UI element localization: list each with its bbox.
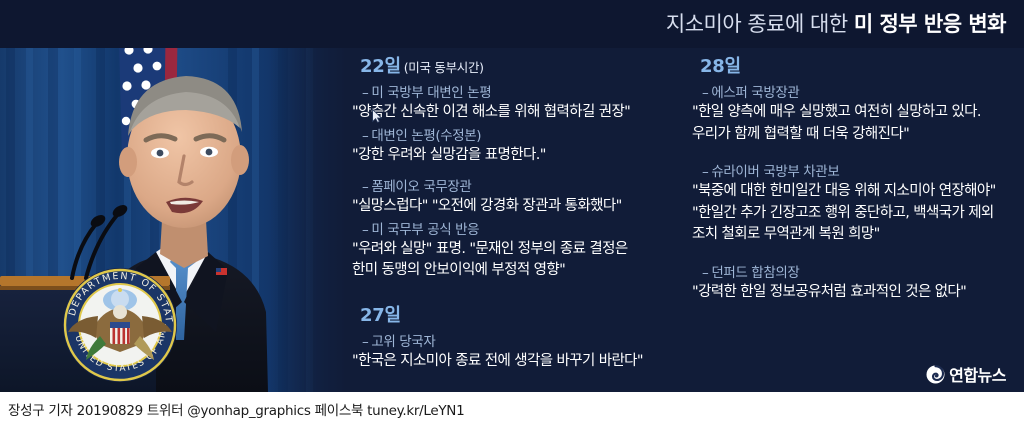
source-label: 폼페이오 국무장관 <box>371 179 471 195</box>
dash-marker: – <box>362 222 368 238</box>
source-label: 미 국방부 대변인 논평 <box>371 85 491 101</box>
source-label: 던퍼드 합참의장 <box>711 265 799 281</box>
statement-entry: –고위 당국자 "한국은 지소미아 종료 전에 생각을 바꾸기 바란다" <box>348 330 688 372</box>
statement-source: –던퍼드 합참의장 <box>702 261 1024 281</box>
dash-marker: – <box>702 164 708 180</box>
statement-entry: –에스퍼 국방장관 "한일 양측에 매우 실망했고 여전히 실망하고 있다. 우… <box>688 81 1024 144</box>
dash-marker: – <box>362 334 368 350</box>
source-label: 대변인 논평(수정본) <box>371 128 481 144</box>
date-heading: 22일(미국 동부시간) <box>360 52 688 78</box>
page-title-light: 지소미아 종료에 대한 <box>666 12 854 36</box>
yonhap-logo: 연합뉴스 <box>926 362 1006 386</box>
date-block-28: 28일 –에스퍼 국방장관 "한일 양측에 매우 실망했고 여전히 실망하고 있… <box>688 52 1024 302</box>
statement-quote: "한일 양측에 매우 실망했고 여전히 실망하고 있다. <box>692 102 1024 123</box>
statement-source: –미 국무부 공식 반응 <box>362 218 688 238</box>
source-label: 고위 당국자 <box>371 334 435 350</box>
footer-credit: 장성구 기자 20190829 트위터 @yonhap_graphics 페이스… <box>8 399 464 419</box>
dash-marker: – <box>362 128 368 144</box>
statement-quote: "한일간 추가 긴장고조 행위 중단하고, 백색국가 제외 <box>692 203 1024 224</box>
statement-entry: –미 국무부 공식 반응 "우려와 실망" 표명. "문재인 정부의 종료 결정… <box>348 218 688 281</box>
spacer <box>348 283 688 297</box>
statement-entry: –슈라이버 국방부 차관보 "북중에 대한 한미일간 대응 위해 지소미아 연장… <box>688 160 1024 245</box>
page-title-bold: 미 정부 반응 변화 <box>854 12 1006 36</box>
spacer <box>348 166 688 174</box>
yonhap-swirl-icon <box>926 365 945 384</box>
statement-source: –고위 당국자 <box>362 330 688 350</box>
date-block-22: 22일(미국 동부시간) –미 국방부 대변인 논평 "양측간 신속한 이견 해… <box>348 52 688 281</box>
column-right: 28일 –에스퍼 국방장관 "한일 양측에 매우 실망했고 여전히 실망하고 있… <box>688 48 1024 304</box>
source-label: 에스퍼 국방장관 <box>711 85 799 101</box>
content-columns: 22일(미국 동부시간) –미 국방부 대변인 논평 "양측간 신속한 이견 해… <box>340 48 1024 392</box>
statement-quote: "강력한 한일 정보공유처럼 효과적인 것은 없다" <box>692 282 1024 303</box>
pompeo-briefing-photo: DEPARTMENT OF STATE UNITED STATES OF AME… <box>0 0 344 392</box>
statement-quote: "실망스럽다" "오전에 강경화 장관과 통화했다" <box>352 196 688 217</box>
date-block-27: 27일 –고위 당국자 "한국은 지소미아 종료 전에 생각을 바꾸기 바란다" <box>348 301 688 372</box>
statement-quote: 조치 철회로 무역관계 복원 희망" <box>692 224 1024 245</box>
date-number: 28일 <box>700 56 741 77</box>
statement-source: –폼페이오 국무장관 <box>362 175 688 195</box>
statement-quote: "한국은 지소미아 종료 전에 생각을 바꾸기 바란다" <box>352 351 688 372</box>
infographic-root: DEPARTMENT OF STATE UNITED STATES OF AME… <box>0 0 1024 424</box>
source-label: 미 국무부 공식 반응 <box>371 222 479 238</box>
photo-fade-overlay <box>268 0 344 392</box>
column-left: 22일(미국 동부시간) –미 국방부 대변인 논평 "양측간 신속한 이견 해… <box>348 48 688 373</box>
header-band: 지소미아 종료에 대한 미 정부 반응 변화 <box>0 0 1024 48</box>
statement-quote: 우리가 함께 협력할 때 더욱 강해진다" <box>692 124 1024 145</box>
statement-entry: –폼페이오 국무장관 "실망스럽다" "오전에 강경화 장관과 통화했다" <box>348 175 688 217</box>
statement-quote: "강한 우려와 실망감을 표명한다." <box>352 145 688 166</box>
spacer <box>688 145 1024 159</box>
date-heading: 28일 <box>700 52 1024 78</box>
date-heading: 27일 <box>360 301 688 327</box>
statement-quote: "북중에 대한 한미일간 대응 위해 지소미아 연장해야" <box>692 181 1024 202</box>
spacer <box>688 246 1024 260</box>
dash-marker: – <box>702 265 708 281</box>
page-title: 지소미아 종료에 대한 미 정부 반응 변화 <box>666 8 1006 38</box>
statement-quote: "우려와 실망" 표명. "문재인 정부의 종료 결정은 <box>352 239 688 260</box>
statement-quote: "양측간 신속한 이견 해소를 위해 협력하길 권장" <box>352 102 688 123</box>
statement-source: –미 국방부 대변인 논평 <box>362 81 688 101</box>
statement-entry: –대변인 논평(수정본) "강한 우려와 실망감을 표명한다." <box>348 124 688 166</box>
statement-quote: 한미 동맹의 안보이익에 부정적 영향" <box>352 260 688 281</box>
dash-marker: – <box>702 85 708 101</box>
date-number: 27일 <box>360 305 401 326</box>
footer-bar: 장성구 기자 20190829 트위터 @yonhap_graphics 페이스… <box>0 392 1024 424</box>
statement-source: –에스퍼 국방장관 <box>702 81 1024 101</box>
date-number: 22일 <box>360 56 401 77</box>
dash-marker: – <box>362 85 368 101</box>
statement-source: –대변인 논평(수정본) <box>362 124 688 144</box>
statement-entry: –미 국방부 대변인 논평 "양측간 신속한 이견 해소를 위해 협력하길 권장… <box>348 81 688 123</box>
dash-marker: – <box>362 179 368 195</box>
yonhap-logo-text: 연합뉴스 <box>949 362 1006 386</box>
statement-entry: –던퍼드 합참의장 "강력한 한일 정보공유처럼 효과적인 것은 없다" <box>688 261 1024 303</box>
date-note: (미국 동부시간) <box>404 60 484 75</box>
source-label: 슈라이버 국방부 차관보 <box>711 164 839 180</box>
statement-source: –슈라이버 국방부 차관보 <box>702 160 1024 180</box>
